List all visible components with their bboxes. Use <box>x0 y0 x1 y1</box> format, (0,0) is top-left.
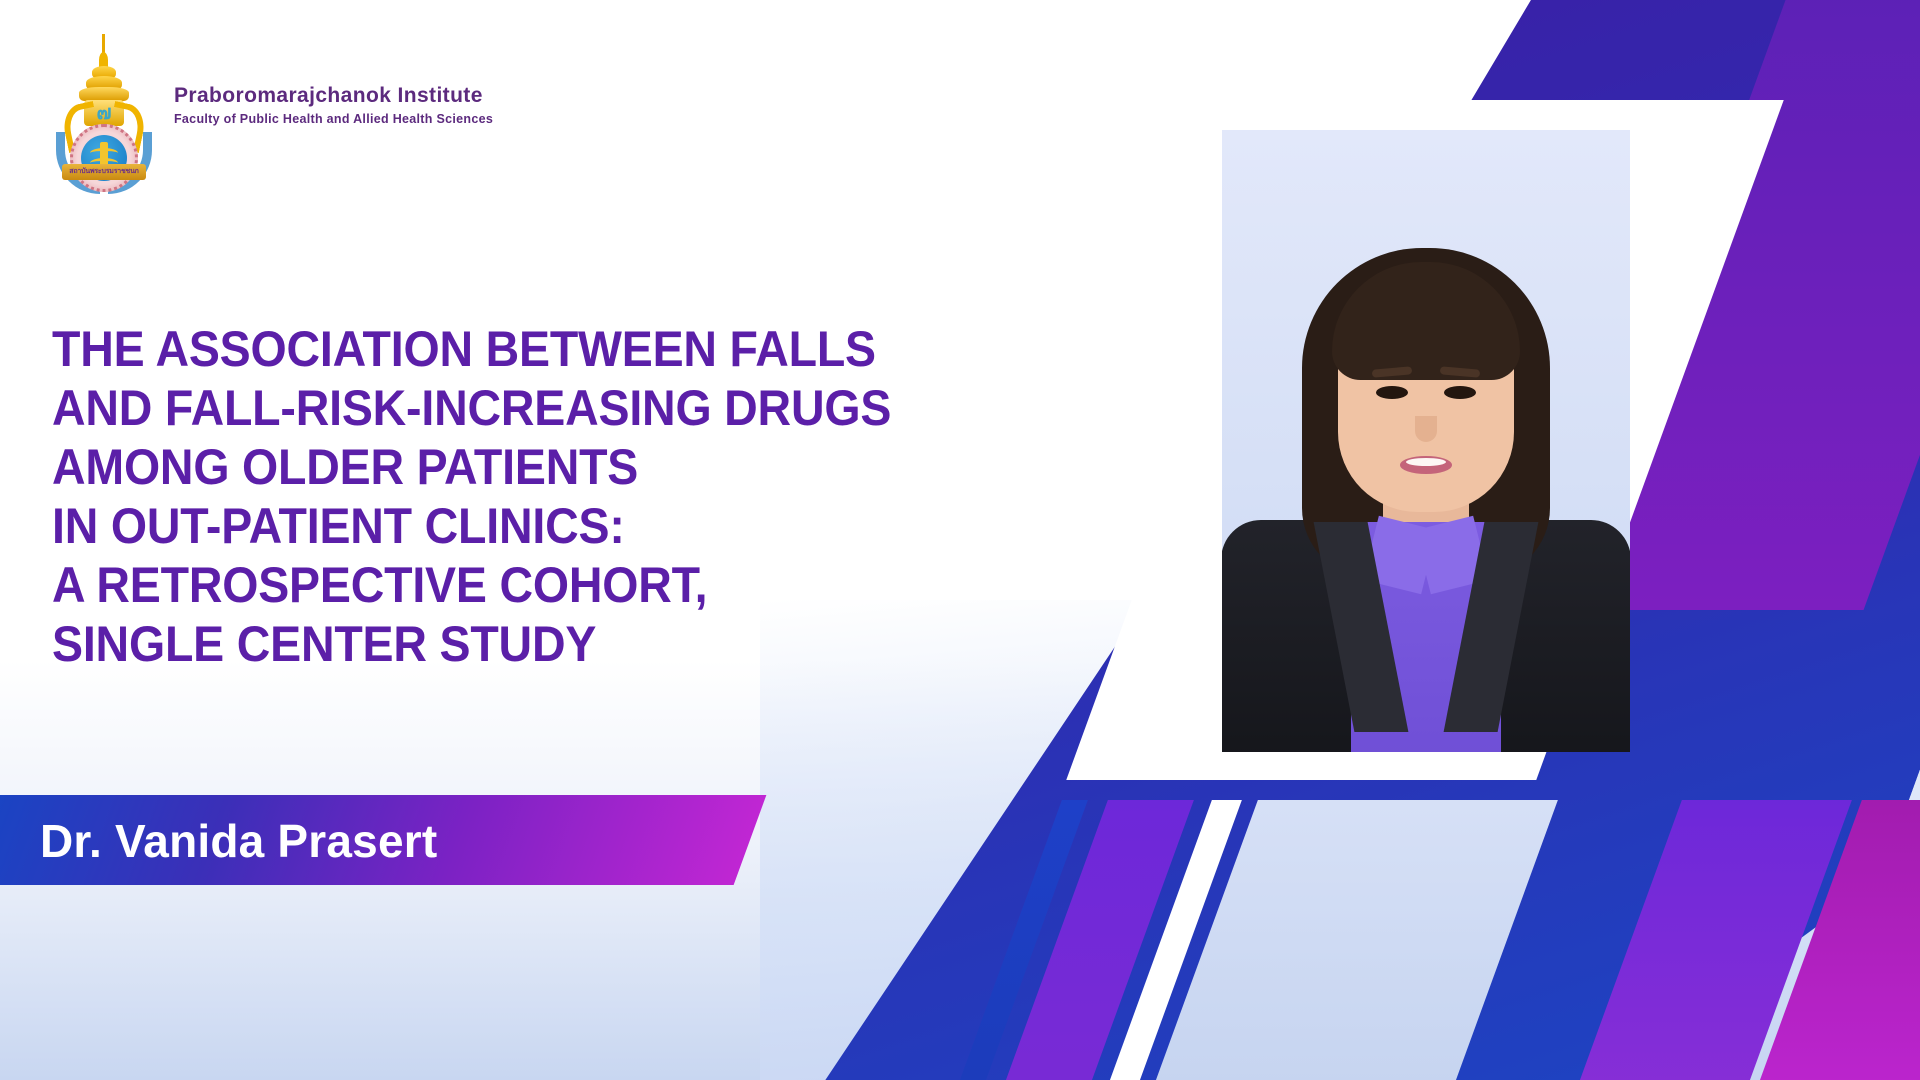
portrait-eye-right <box>1444 386 1476 399</box>
caduceus-wing-upper-icon <box>90 148 118 158</box>
title-line-4: IN OUT-PATIENT CLINICS: <box>52 497 917 556</box>
title-line-2: AND FALL-RISK-INCREASING DRUGS <box>52 379 917 438</box>
title-slide: ๗ สถาบันพระบรมราชชนก Praboromarajchanok … <box>0 0 1920 1080</box>
emblem-thai-banner: สถาบันพระบรมราชชนก <box>62 164 146 180</box>
portrait-nose <box>1415 416 1437 442</box>
institution-name: Praboromarajchanok Institute <box>174 84 493 107</box>
title-line-6: SINGLE CENTER STUDY <box>52 615 917 674</box>
title-line-1: THE ASSOCIATION BETWEEN FALLS <box>52 320 917 379</box>
speaker-name: Dr. Vanida Prasert <box>40 805 437 877</box>
speaker-portrait <box>1222 130 1630 752</box>
logo-text-block: Praboromarajchanok Institute Faculty of … <box>174 84 493 140</box>
institution-faculty: Faculty of Public Health and Allied Heal… <box>174 112 493 126</box>
institution-emblem-icon: ๗ สถาบันพระบรมราชชนก <box>48 32 160 192</box>
title-line-3: AMONG OLDER PATIENTS <box>52 438 917 497</box>
title-line-5: A RETROSPECTIVE COHORT, <box>52 556 917 615</box>
portrait-teeth <box>1406 458 1446 466</box>
institution-logo: ๗ สถาบันพระบรมราชชนก Praboromarajchanok … <box>48 32 493 192</box>
emblem-crown-tier-3 <box>79 87 129 101</box>
presentation-title: THE ASSOCIATION BETWEEN FALLS AND FALL-R… <box>52 320 917 674</box>
portrait-eye-left <box>1376 386 1408 399</box>
